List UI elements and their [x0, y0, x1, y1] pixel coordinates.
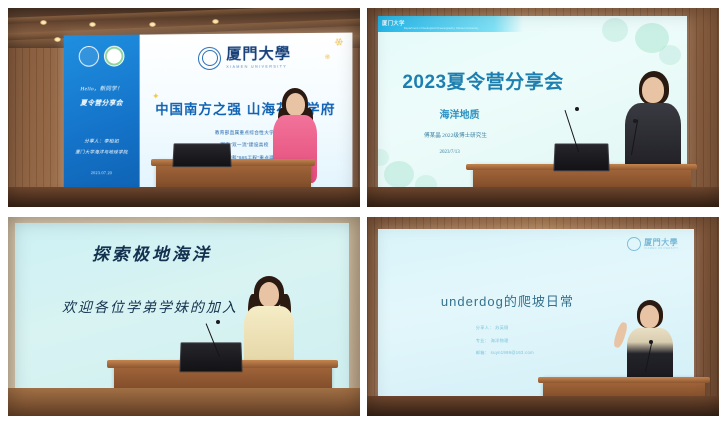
slide-presenter: 傅某晶 2022级博士研究生: [424, 131, 487, 139]
slide-greeting: Hello，新同学！: [64, 84, 140, 92]
leaf-decoration: [602, 18, 628, 42]
slide-sidebar: Hello，新同学！ 夏令营分享会 分享人：李柏如 厦门大学海洋与地球学院 20…: [64, 35, 140, 191]
university-logo: 厦門大學 XIAMEN UNIVERSITY: [198, 46, 291, 70]
slide-date: 2023.07.20: [64, 170, 140, 176]
university-name-en: XIAMEN UNIVERSITY: [644, 247, 678, 250]
university-logo: 厦門大學 XIAMEN UNIVERSITY: [627, 237, 678, 251]
university-name: 厦門大學: [644, 239, 678, 247]
slide-affiliation: 厦门大学海洋与地球学院: [64, 149, 140, 155]
laptop-screen: [173, 144, 233, 168]
leaf-decoration: [384, 161, 414, 188]
ginkgo-leaf-decoration: ❄: [323, 53, 331, 62]
speaker-head: [642, 77, 664, 103]
college-badge-icon: [104, 46, 124, 67]
laptop-screen: [180, 343, 243, 373]
banner-title: 厦门大学: [382, 19, 405, 27]
podium-top: [538, 377, 710, 383]
xmu-seal-icon: [627, 237, 641, 251]
slide-banner: 厦门大学 Department of Geological Oceanograp…: [378, 16, 524, 32]
ceiling-light: [89, 22, 96, 27]
laptop-screen: [553, 144, 609, 172]
slide-title: underdog的爬坡日常: [441, 291, 574, 310]
ceiling-light: [40, 20, 47, 25]
speaker-person: [238, 276, 300, 372]
photo-panel-top-right: 厦门大学 Department of Geological Oceanograp…: [367, 8, 719, 207]
slide-logo-group: [78, 46, 124, 67]
speaker-head: [640, 305, 659, 328]
slide-event-name: 夏令营分享会: [64, 98, 140, 108]
floor-band: [367, 187, 719, 207]
leaf-decoration: [378, 149, 390, 166]
slide-subtitle: 海洋地质: [439, 106, 479, 121]
ceiling-light: [54, 37, 61, 42]
slide-presenter: 分享人： 苏英栩: [476, 325, 509, 331]
xmu-seal-icon: [78, 46, 98, 67]
slide-presenter: 分享人：李柏如: [64, 137, 140, 144]
university-name: 厦門大學: [226, 47, 291, 63]
slide-date: 2023/7/13: [439, 150, 459, 155]
university-name-en: XIAMEN UNIVERSITY: [226, 64, 291, 68]
slide-title: 探索极地海洋: [92, 240, 212, 265]
floor-band: [367, 396, 719, 416]
photo-panel-bottom-right: 厦門大學 XIAMEN UNIVERSITY underdog的爬坡日常 分享人…: [367, 217, 719, 416]
xmu-seal-icon: [198, 46, 221, 69]
slide-subtitle: 欢迎各位学弟学妹的加入: [62, 297, 238, 317]
photo-panel-bottom-left: 探索极地海洋 欢迎各位学弟学妹的加入: [8, 217, 360, 416]
ceiling-light: [212, 19, 219, 24]
banner-subtitle: Department of Geological Oceanography, X…: [404, 26, 479, 30]
floor-band: [8, 187, 360, 207]
slide-title: 2023夏令营分享会: [402, 67, 563, 94]
slide-major: 专业： 海洋物理: [476, 338, 509, 344]
speaker-head: [259, 282, 279, 307]
ginkgo-leaf-decoration: ❄: [331, 34, 345, 50]
photo-collage: Hello，新同学！ 夏令营分享会 分享人：李柏如 厦门大学海洋与地球学院 20…: [0, 0, 719, 424]
speaker-head: [286, 93, 305, 116]
photo-panel-top-left: Hello，新同学！ 夏令营分享会 分享人：李柏如 厦门大学海洋与地球学院 20…: [8, 8, 360, 207]
leaf-decoration: [659, 45, 681, 65]
floor-band: [8, 388, 360, 416]
slide-email: 邮箱： suyn1999@163.com: [476, 350, 534, 356]
